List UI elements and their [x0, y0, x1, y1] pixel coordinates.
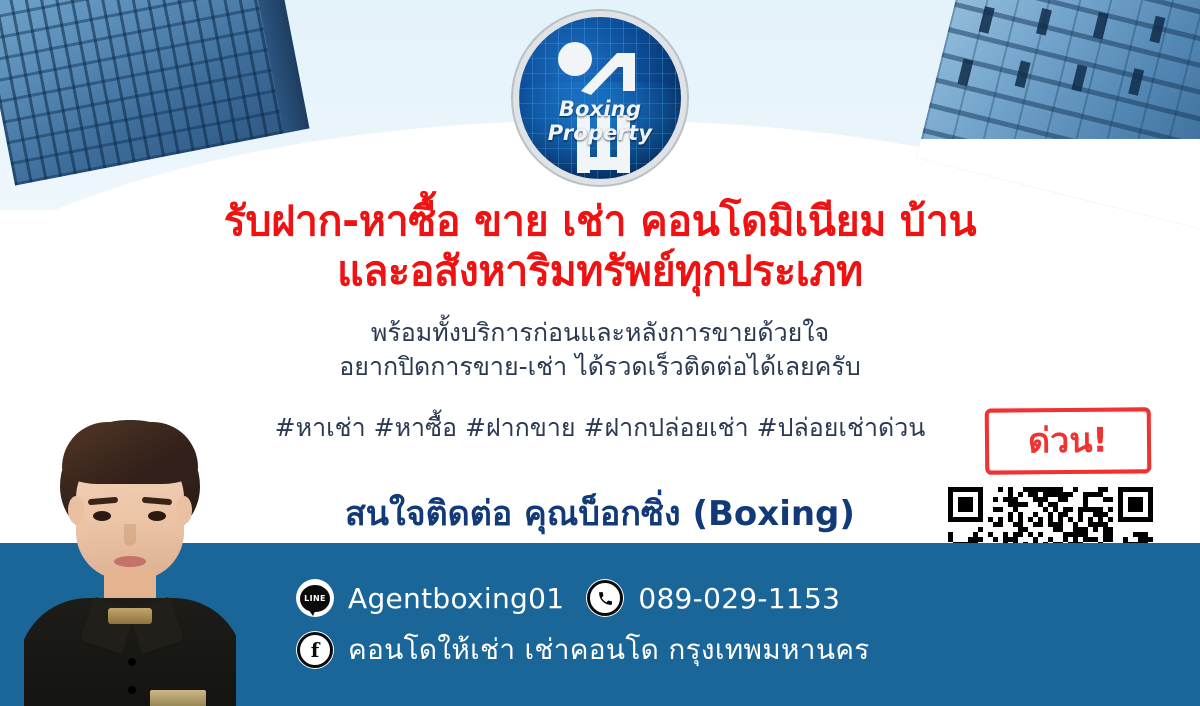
facebook-icon[interactable]: f: [296, 631, 334, 669]
phone-icon[interactable]: [586, 579, 624, 617]
portrait-eye-right: [148, 511, 166, 521]
portrait-fringe: [62, 422, 198, 484]
promo-banner: Boxing Property รับฝาก-หาซื้อ ขาย เช่า ค…: [0, 0, 1200, 706]
contact-row-facebook: f คอนโดให้เช่า เช่าคอนโด กรุงเทพมหานคร: [296, 624, 936, 676]
subtitle: พร้อมทั้งบริการก่อนและหลังการขายด้วยใจ อ…: [0, 316, 1200, 384]
subtitle-line-1: พร้อมทั้งบริการก่อนและหลังการขายด้วยใจ: [0, 316, 1200, 350]
facebook-icon-glyph: f: [311, 640, 320, 660]
facebook-page-value: คอนโดให้เช่า เช่าคอนโด กรุงเทพมหานคร: [348, 628, 870, 672]
portrait-button-top: [128, 658, 136, 666]
line-id-value: Agentboxing01: [348, 582, 564, 615]
agent-portrait-photo: [24, 412, 236, 706]
line-icon-label: LINE: [304, 594, 326, 603]
portrait-nose: [124, 524, 136, 546]
urgent-stamp-label: ด่วน!: [1028, 424, 1108, 459]
contact-details: LINE Agentboxing01 089-029-1153 f คอนโดใ…: [296, 572, 936, 676]
portrait-eye-left: [93, 511, 111, 521]
page-title: รับฝาก-หาซื้อ ขาย เช่า คอนโดมิเนียม บ้าน…: [0, 196, 1200, 296]
portrait-collar-trim: [108, 608, 152, 624]
portrait-ear-right: [176, 496, 192, 524]
headline-line-2: และอสังหาริมทรัพย์ทุกประเภท: [0, 246, 1200, 296]
headline-line-1: รับฝาก-หาซื้อ ขาย เช่า คอนโดมิเนียม บ้าน: [0, 196, 1200, 246]
boxing-property-logo: Boxing Property: [519, 17, 681, 179]
phone-number-value: 089-029-1153: [638, 582, 840, 615]
line-icon[interactable]: LINE: [296, 579, 334, 617]
contact-row-line: LINE Agentboxing01 089-029-1153: [296, 572, 936, 624]
phone-handset-icon: [597, 590, 614, 607]
urgent-stamp: ด่วน!: [985, 407, 1152, 475]
portrait-ear-left: [68, 496, 84, 524]
portrait-name-badge: [150, 690, 206, 706]
portrait-button-bottom: [128, 686, 136, 694]
portrait-mouth: [114, 556, 146, 567]
subtitle-line-2: อยากปิดการขาย-เช่า ได้รวดเร็วติดต่อได้เล…: [0, 350, 1200, 384]
logo-wordmark: Boxing Property: [519, 97, 681, 145]
